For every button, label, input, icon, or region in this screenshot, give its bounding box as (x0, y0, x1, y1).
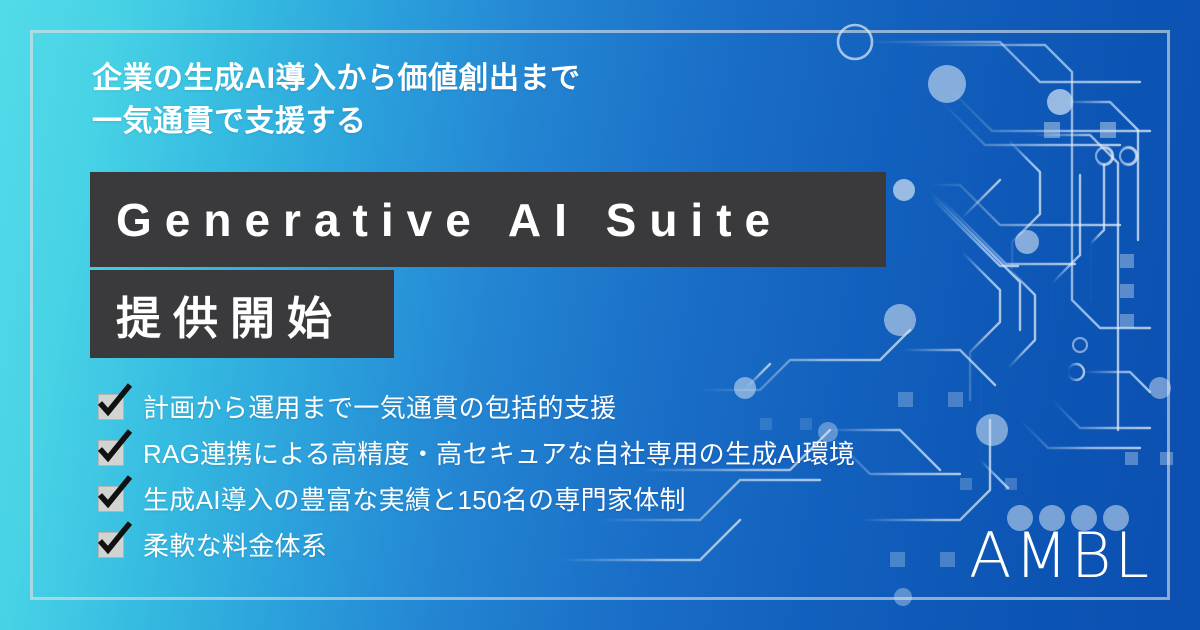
ambl-logo: AMBL (969, 519, 1152, 592)
list-item: 生成AI導入の豊富な実績と150名の専門家体制 (98, 480, 855, 517)
list-item: RAG連携による高精度・高セキュアな自社専用の生成AI環境 (98, 434, 855, 471)
feature-label: 生成AI導入の豊富な実績と150名の専門家体制 (143, 480, 686, 517)
checkbox-checked-icon (98, 394, 124, 420)
checkbox-checked-icon (98, 486, 124, 512)
title-block-primary: Generative AI Suite (90, 172, 886, 267)
checkbox-checked-icon (98, 440, 124, 466)
page-title: Generative AI Suite (90, 193, 783, 247)
feature-label: 柔軟な料金体系 (143, 526, 327, 563)
list-item: 柔軟な料金体系 (98, 526, 855, 563)
checkbox-checked-icon (98, 532, 124, 558)
list-item: 計画から運用まで一気通貫の包括的支援 (98, 388, 855, 425)
feature-label: RAG連携による高精度・高セキュアな自社専用の生成AI環境 (143, 434, 855, 471)
promo-banner: 企業の生成AI導入から価値創出まで 一気通貫で支援する Generative A… (0, 0, 1200, 630)
feature-label: 計画から運用まで一気通貫の包括的支援 (143, 388, 616, 425)
page-subtitle-badge: 提供開始 (90, 282, 344, 347)
banner-subtitle: 企業の生成AI導入から価値創出まで 一気通貫で支援する (92, 58, 581, 143)
feature-list: 計画から運用まで一気通貫の包括的支援 RAG連携による高精度・高セキュアな自社専… (98, 388, 855, 563)
title-block-secondary: 提供開始 (90, 270, 394, 358)
